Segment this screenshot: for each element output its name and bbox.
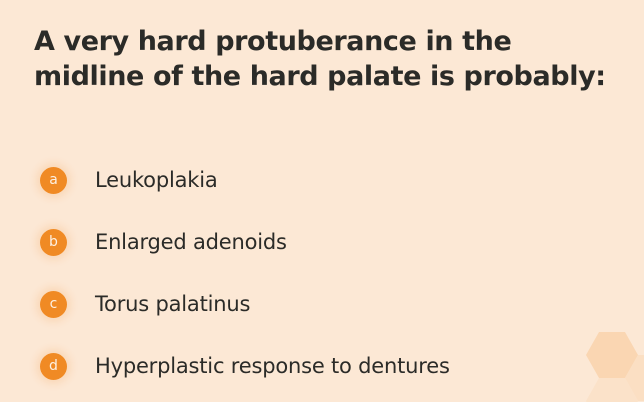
option-letter-c: c [50, 297, 58, 311]
option-row-d[interactable]: d Hyperplastic response to dentures [40, 335, 620, 397]
option-label-b: Enlarged adenoids [95, 229, 287, 255]
option-label-c: Torus palatinus [95, 291, 250, 317]
question-text: A very hard protuberance in the midline … [34, 24, 609, 94]
option-marker-c-icon[interactable]: c [40, 291, 67, 318]
option-marker-b-icon[interactable]: b [40, 229, 67, 256]
option-row-c[interactable]: c Torus palatinus [40, 273, 620, 335]
options-list: a Leukoplakia b Enlarged adenoids c Toru… [40, 149, 620, 397]
quiz-card: A very hard protuberance in the midline … [0, 0, 644, 402]
question-block: A very hard protuberance in the midline … [34, 24, 609, 94]
option-marker-a-icon[interactable]: a [40, 167, 67, 194]
option-row-b[interactable]: b Enlarged adenoids [40, 211, 620, 273]
option-label-a: Leukoplakia [95, 167, 218, 193]
option-letter-b: b [49, 235, 58, 249]
option-marker-d-icon[interactable]: d [40, 353, 67, 380]
option-letter-a: a [49, 173, 58, 187]
option-letter-d: d [49, 359, 58, 373]
option-label-d: Hyperplastic response to dentures [95, 353, 450, 379]
option-row-a[interactable]: a Leukoplakia [40, 149, 620, 211]
